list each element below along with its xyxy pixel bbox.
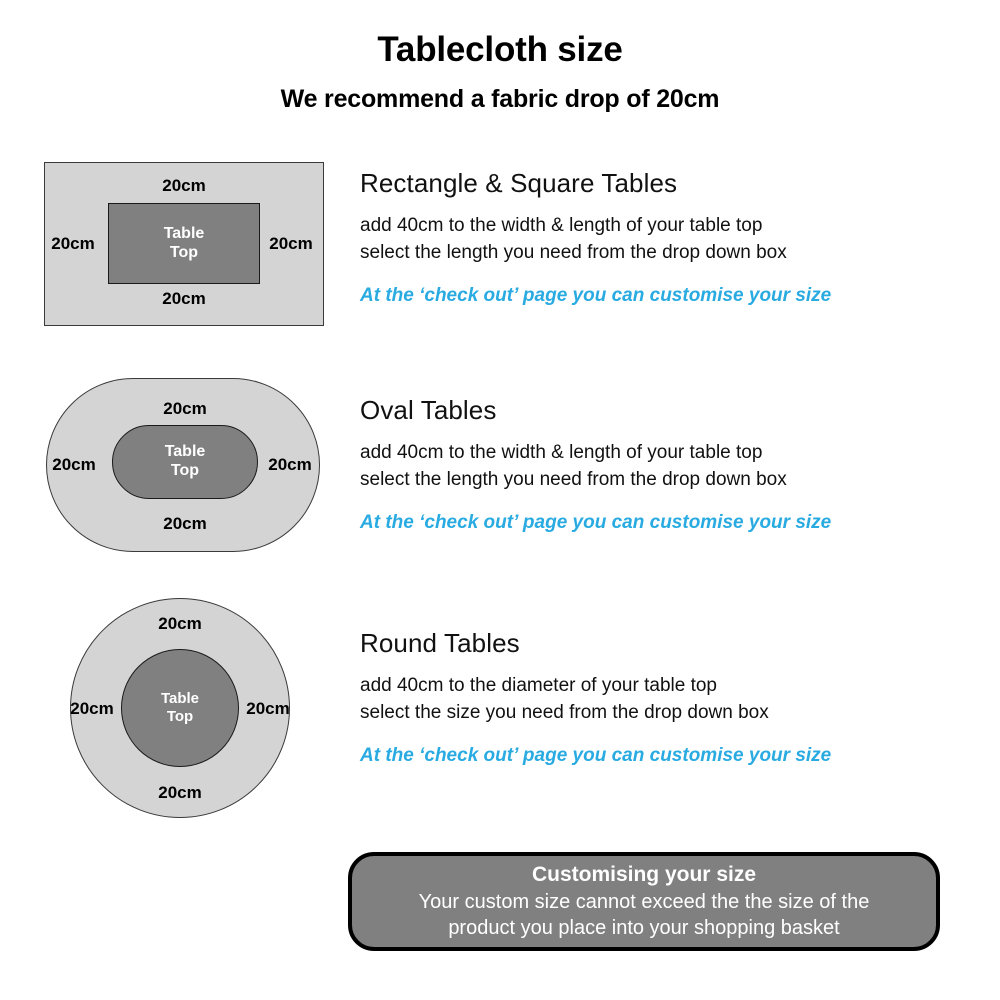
customising-panel: Customising your size Your custom size c… (348, 852, 940, 951)
round-cta: At the ‘check out’ page you can customis… (360, 745, 831, 767)
oval-drop-bottom: 20cm (131, 514, 239, 534)
oval-line-1: add 40cm to the width & length of your t… (360, 440, 831, 467)
infographic-page: Tablecloth size We recommend a fabric dr… (0, 0, 1000, 1000)
table-top-label-line2: Top (171, 462, 199, 481)
table-top-label-line2: Top (170, 244, 198, 263)
oval-drop-top: 20cm (131, 399, 239, 419)
round-line-2: select the size you need from the drop d… (360, 700, 831, 727)
page-title: Tablecloth size (0, 30, 1000, 70)
rectangle-table-top: Table Top (108, 203, 260, 284)
rectangle-drop-left: 20cm (41, 234, 105, 254)
table-top-label-line1: Table (161, 690, 199, 708)
page-subtitle: We recommend a fabric drop of 20cm (0, 85, 1000, 114)
round-drop-bottom: 20cm (126, 783, 234, 803)
round-drop-right: 20cm (240, 699, 296, 719)
rectangle-drop-bottom: 20cm (130, 289, 238, 309)
rectangle-drop-right: 20cm (259, 234, 323, 254)
table-top-label-line1: Table (164, 225, 205, 244)
rectangle-cta: At the ‘check out’ page you can customis… (360, 285, 831, 307)
rectangle-heading: Rectangle & Square Tables (360, 168, 831, 199)
rectangle-drop-top: 20cm (130, 176, 238, 196)
customising-panel-line-2: product you place into your shopping bas… (448, 915, 839, 941)
round-drop-top: 20cm (126, 614, 234, 634)
oval-drop-left: 20cm (42, 455, 106, 475)
rectangle-line-2: select the length you need from the drop… (360, 240, 831, 267)
oval-text-block: Oval Tables add 40cm to the width & leng… (360, 395, 831, 534)
oval-table-top: Table Top (112, 425, 258, 499)
round-line-1: add 40cm to the diameter of your table t… (360, 673, 831, 700)
oval-drop-right: 20cm (258, 455, 322, 475)
rectangle-text-block: Rectangle & Square Tables add 40cm to th… (360, 168, 831, 307)
rectangle-line-1: add 40cm to the width & length of your t… (360, 213, 831, 240)
customising-panel-line-1: Your custom size cannot exceed the the s… (419, 889, 870, 915)
table-top-label-line1: Table (165, 443, 206, 462)
customising-panel-title: Customising your size (532, 862, 756, 888)
table-top-label-line2: Top (167, 708, 193, 726)
oval-cta: At the ‘check out’ page you can customis… (360, 512, 831, 534)
oval-heading: Oval Tables (360, 395, 831, 426)
round-heading: Round Tables (360, 628, 831, 659)
oval-line-2: select the length you need from the drop… (360, 467, 831, 494)
round-text-block: Round Tables add 40cm to the diameter of… (360, 628, 831, 767)
round-drop-left: 20cm (64, 699, 120, 719)
round-table-top: Table Top (121, 649, 239, 767)
